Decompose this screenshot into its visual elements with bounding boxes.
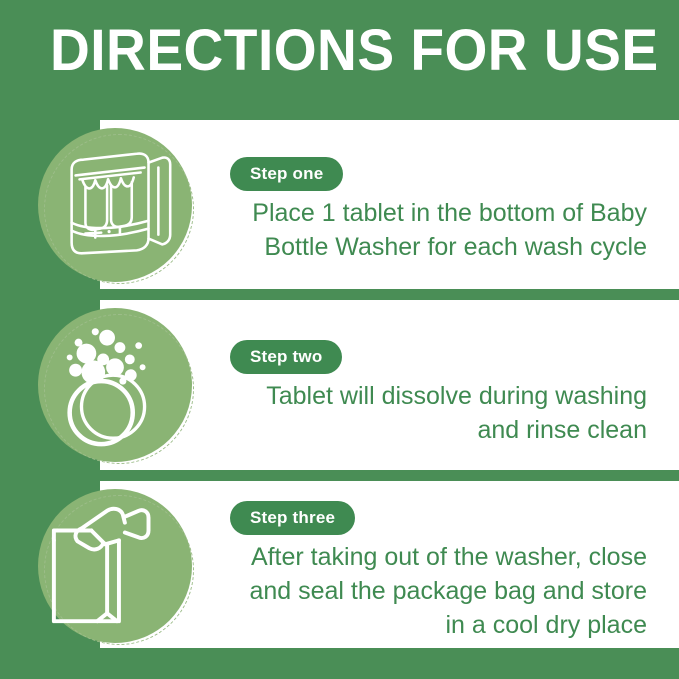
step-two-description: Tablet will dissolve during washing and … bbox=[230, 379, 647, 447]
step-three-description: After taking out of the washer, close an… bbox=[230, 540, 647, 642]
step-two-badge: Step two bbox=[230, 340, 342, 374]
baby-bottle-washer-icon bbox=[46, 136, 184, 274]
step-two-icon-circle bbox=[38, 308, 198, 468]
dissolving-tablet-bubbles-icon bbox=[46, 316, 184, 454]
page-title: DIRECTIONS FOR USE bbox=[50, 22, 620, 80]
step-two-text-column: Step two Tablet will dissolve during was… bbox=[230, 300, 647, 470]
hand-sealing-package-bag-icon bbox=[46, 497, 184, 635]
step-three-text-column: Step three After taking out of the washe… bbox=[230, 481, 647, 648]
step-one-badge: Step one bbox=[230, 157, 343, 191]
step-one-icon-circle bbox=[38, 128, 198, 288]
step-three-badge: Step three bbox=[230, 501, 355, 535]
step-three-icon-circle bbox=[38, 489, 198, 649]
step-one-description: Place 1 tablet in the bottom of Baby Bot… bbox=[230, 196, 647, 264]
directions-for-use-poster: DIRECTIONS FOR USE Step one Place 1 tabl… bbox=[0, 0, 679, 679]
step-one-text-column: Step one Place 1 tablet in the bottom of… bbox=[230, 120, 647, 289]
